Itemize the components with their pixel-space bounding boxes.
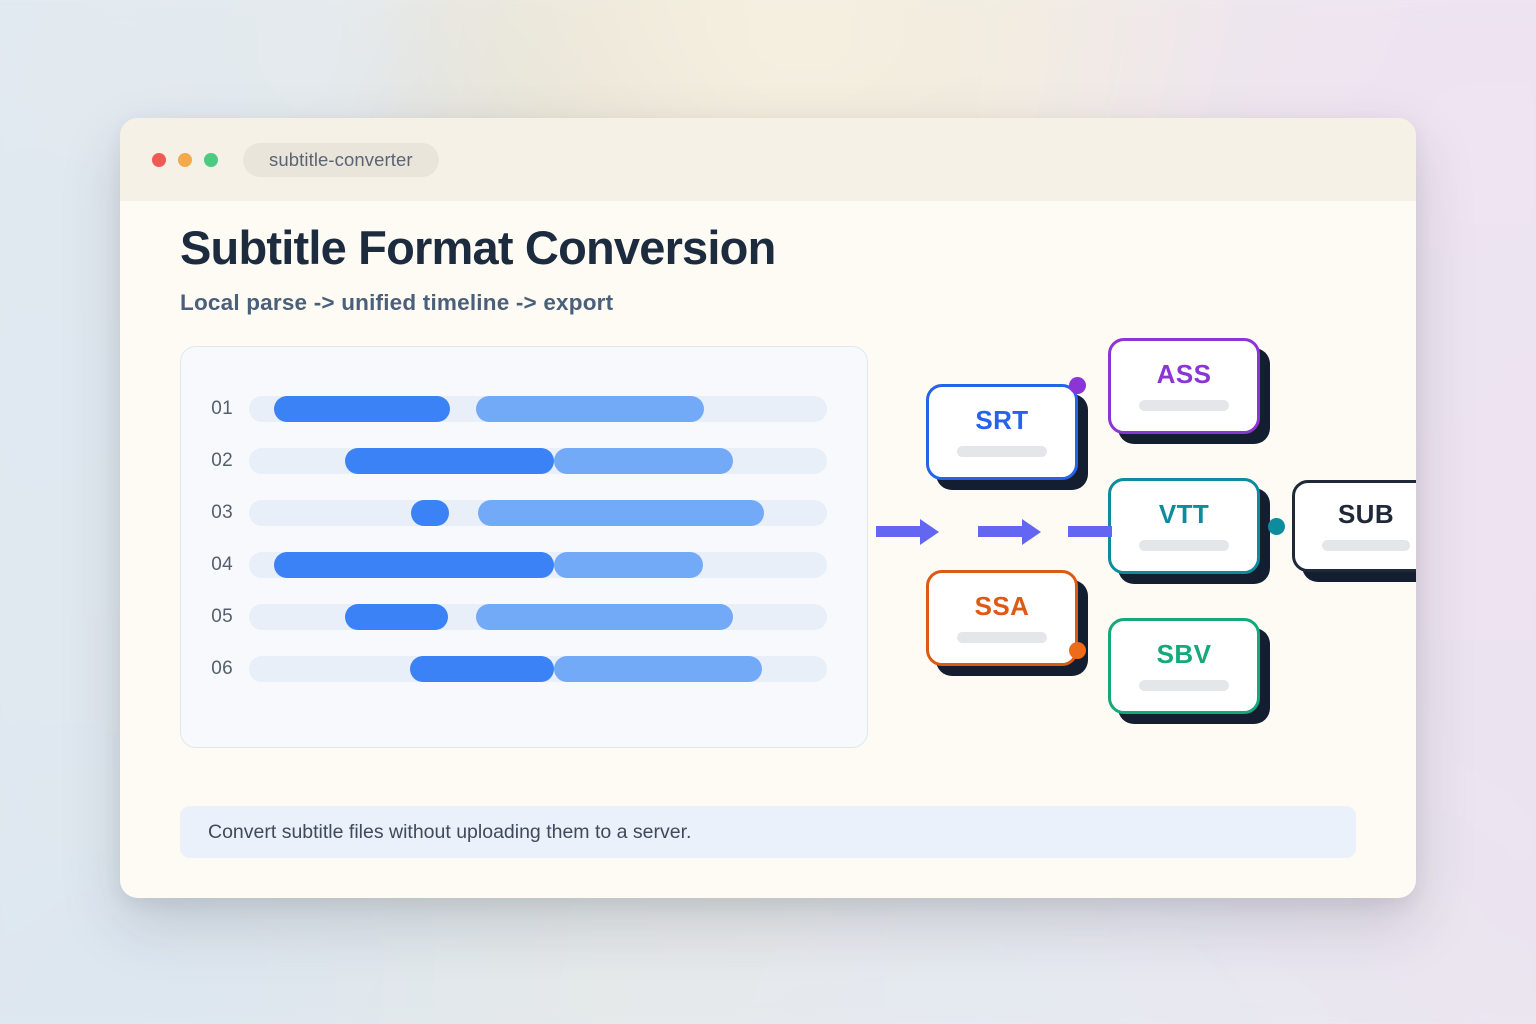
format-card-label: SRT <box>975 407 1028 433</box>
timeline-row-label: 01 <box>191 398 233 420</box>
minimize-icon[interactable] <box>178 153 192 167</box>
format-card-vtt[interactable]: VTT <box>1108 478 1260 574</box>
format-card-placeholder-bar <box>1139 540 1230 551</box>
timeline-row-label: 03 <box>191 502 233 524</box>
timeline-segment-primary[interactable] <box>274 552 554 578</box>
timeline-panel: 010203040506 <box>180 346 868 748</box>
tab-subtitle-converter[interactable]: subtitle-converter <box>243 143 439 177</box>
timeline-track[interactable] <box>249 552 827 578</box>
page-subtitle: Local parse -> unified timeline -> expor… <box>180 290 1356 316</box>
footer-note: Convert subtitle files without uploading… <box>180 806 1356 858</box>
format-card-label: SBV <box>1157 641 1212 667</box>
format-card-placeholder-bar <box>1139 680 1230 691</box>
window-content: Subtitle Format Conversion Local parse -… <box>120 201 1416 898</box>
timeline-track[interactable] <box>249 396 827 422</box>
timeline-row-label: 04 <box>191 554 233 576</box>
main-columns: 010203040506 SRTASSVTTSUBSSASBV <box>180 346 1356 748</box>
arrow-head <box>1022 519 1041 545</box>
timeline-segment-secondary[interactable] <box>478 500 764 526</box>
footer-note-text: Convert subtitle files without uploading… <box>208 821 691 844</box>
format-card-sub[interactable]: SUB <box>1292 480 1416 572</box>
arrow-shaft <box>978 526 1022 537</box>
timeline-segment-secondary[interactable] <box>554 552 703 578</box>
timeline-row-label: 02 <box>191 450 233 472</box>
app-window: subtitle-converter Subtitle Format Conve… <box>120 118 1416 898</box>
format-card-ass[interactable]: ASS <box>1108 338 1260 434</box>
connector-dot-srt <box>1069 377 1086 394</box>
format-card-label: ASS <box>1157 361 1212 387</box>
timeline-row-label: 05 <box>191 606 233 628</box>
format-card-placeholder-bar <box>1322 540 1410 551</box>
format-card-label: SUB <box>1338 501 1394 527</box>
format-card-placeholder-bar <box>1139 400 1230 411</box>
arrow-head <box>920 519 939 545</box>
format-card-srt[interactable]: SRT <box>926 384 1078 480</box>
timeline-track[interactable] <box>249 604 827 630</box>
format-graph: SRTASSVTTSUBSSASBV <box>868 346 1356 748</box>
timeline-segment-primary[interactable] <box>411 500 449 526</box>
timeline-row: 01 <box>191 383 827 435</box>
timeline-row: 05 <box>191 591 827 643</box>
window-titlebar: subtitle-converter <box>120 118 1416 201</box>
timeline-track[interactable] <box>249 656 827 682</box>
format-card-sbv[interactable]: SBV <box>1108 618 1260 714</box>
arrow-shaft <box>1068 526 1112 537</box>
timeline-row: 03 <box>191 487 827 539</box>
timeline-track[interactable] <box>249 448 827 474</box>
timeline-segment-primary[interactable] <box>274 396 450 422</box>
format-card-label: VTT <box>1159 501 1209 527</box>
format-card-placeholder-bar <box>957 446 1048 457</box>
maximize-icon[interactable] <box>204 153 218 167</box>
format-card-placeholder-bar <box>957 632 1048 643</box>
arrow-shaft <box>876 526 920 537</box>
format-card-label: SSA <box>975 593 1030 619</box>
format-card-ssa[interactable]: SSA <box>926 570 1078 666</box>
timeline-row: 04 <box>191 539 827 591</box>
timeline-segment-secondary[interactable] <box>476 396 705 422</box>
close-icon[interactable] <box>152 153 166 167</box>
traffic-lights <box>152 153 218 167</box>
timeline-segment-secondary[interactable] <box>554 656 762 682</box>
timeline-row: 02 <box>191 435 827 487</box>
tab-label: subtitle-converter <box>269 149 413 171</box>
timeline-segment-primary[interactable] <box>345 604 448 630</box>
connector-dot-ssa <box>1069 642 1086 659</box>
timeline-segment-primary[interactable] <box>345 448 554 474</box>
timeline-segment-primary[interactable] <box>410 656 555 682</box>
timeline-track[interactable] <box>249 500 827 526</box>
timeline-segment-secondary[interactable] <box>554 448 733 474</box>
timeline-row: 06 <box>191 643 827 695</box>
timeline-segment-secondary[interactable] <box>476 604 734 630</box>
timeline-row-label: 06 <box>191 658 233 680</box>
connector-dot-vtt-sub <box>1268 518 1285 535</box>
page-title: Subtitle Format Conversion <box>180 223 1356 272</box>
